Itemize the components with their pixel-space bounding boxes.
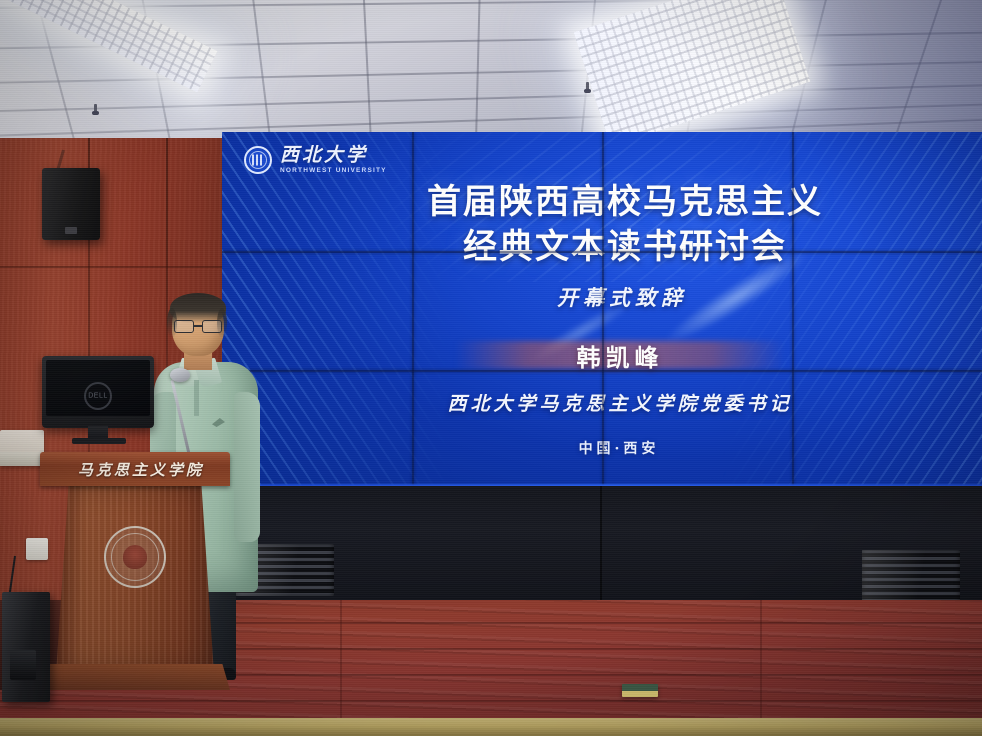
videowall-bezel-h xyxy=(222,370,982,372)
university-logo: 西北大学 NORTHWEST UNIVERSITY xyxy=(244,146,387,175)
university-logo-text: 西北大学 NORTHWEST UNIVERSITY xyxy=(280,146,387,175)
speaker-logo xyxy=(65,227,77,234)
screen-base-panel xyxy=(222,486,982,608)
videowall-bezel-v xyxy=(412,132,414,490)
base-panel-seam xyxy=(600,486,602,608)
pc-drive-bay xyxy=(10,650,36,680)
floor-seam xyxy=(760,600,762,736)
glasses-lens-left xyxy=(174,320,194,333)
floor-seam xyxy=(340,600,342,736)
videowall-bezel-v xyxy=(792,132,794,490)
glasses-bridge xyxy=(194,325,202,327)
monitor-foot xyxy=(72,438,126,444)
microphone-head xyxy=(170,368,190,382)
wall-seam-horizontal xyxy=(0,266,250,268)
person-shirt-placket xyxy=(194,380,199,416)
podium-monitor xyxy=(42,356,154,428)
videowall-bezel-h xyxy=(222,251,982,253)
glasses-lens-right xyxy=(202,320,222,333)
university-name-cn: 西北大学 xyxy=(280,146,387,165)
podium-banner-text: 马克思主义学院 xyxy=(66,459,204,480)
sprinkler-left xyxy=(92,104,99,116)
led-video-wall: 西北大学 NORTHWEST UNIVERSITY 首届陕西高校马克思主义 经典… xyxy=(222,132,982,490)
videowall-bezel-v xyxy=(602,132,604,490)
dell-logo-icon xyxy=(84,382,112,410)
podium-base xyxy=(40,664,230,690)
podium-banner: 马克思主义学院 xyxy=(40,452,230,486)
sprinkler-center xyxy=(584,82,591,94)
university-name-en: NORTHWEST UNIVERSITY xyxy=(280,168,387,175)
glasses-icon xyxy=(174,320,222,333)
wall-socket xyxy=(26,538,48,560)
monitor-screen xyxy=(46,360,150,416)
stage-edge-trim xyxy=(0,718,982,736)
ceiling-grid-line-v xyxy=(0,0,4,152)
book-on-floor xyxy=(622,684,658,697)
person-arm-right xyxy=(234,392,260,542)
vent-right xyxy=(862,550,960,602)
conference-photo-scene: 西北大学 NORTHWEST UNIVERSITY 首届陕西高校马克思主义 经典… xyxy=(0,0,982,736)
ceiling xyxy=(0,0,982,152)
podium: 马克思主义学院 xyxy=(40,452,230,702)
wall-speaker xyxy=(42,168,100,240)
university-seal-icon xyxy=(244,146,272,174)
ceiling-grid-line-v xyxy=(360,0,374,152)
slide-speaker-name: 韩凯峰 xyxy=(258,338,982,373)
podium-body xyxy=(56,484,214,674)
pc-tower xyxy=(2,592,50,702)
ceiling-grid-line-v xyxy=(474,0,482,152)
school-emblem-icon xyxy=(104,526,166,588)
